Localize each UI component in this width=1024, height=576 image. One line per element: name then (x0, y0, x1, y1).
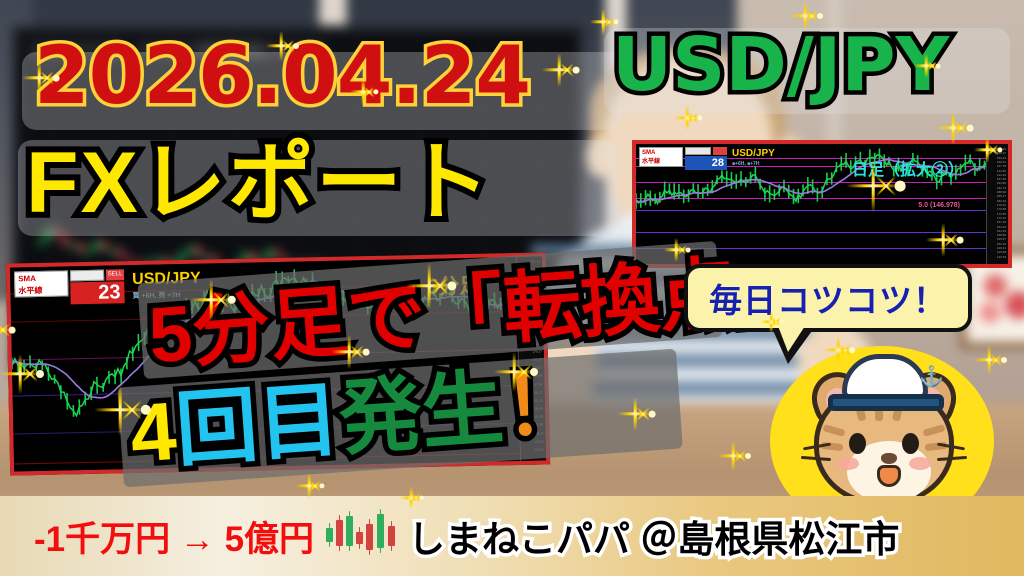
headline-event: 発生 (336, 363, 506, 465)
legend-hline: 水平線 (642, 158, 680, 167)
report-title: FXレポート (26, 140, 492, 226)
chart-5min-price-badge: 23 (70, 281, 124, 304)
speech-bubble: 毎日コツコツ！ (684, 264, 972, 332)
chart-daily-price-badge: 28 (685, 156, 727, 170)
chart-daily-subtext: ■+6H, ■+7H (732, 161, 759, 167)
thumbnail-canvas: 2026.04.24 USD/JPY FXレポート SMA 水平線 28 USD… (0, 0, 1024, 576)
chart-daily-price-annotation: 5.0 (146.978) (918, 202, 960, 209)
chart-daily-qty (685, 147, 711, 155)
channel-handle: しまねこパパ ＠島根県松江市 (408, 509, 899, 563)
cat-eye-right (902, 433, 919, 454)
date-title: 2026.04.24 (34, 36, 530, 116)
legend-hline: 水平線 (18, 284, 64, 297)
pair-title: USD/JPY (612, 28, 949, 102)
chart-5min-sell-button[interactable]: SELL (106, 269, 124, 280)
headline-exclaim: ！ (500, 357, 588, 453)
legend-sma: SMA (18, 272, 64, 285)
speech-bubble-text: 毎日コツコツ！ (709, 274, 947, 322)
chart-daily-sell (713, 147, 727, 155)
chart-daily-symbol: USD/JPY (732, 148, 775, 159)
chart-daily-legend: SMA 水平線 (639, 147, 683, 167)
performance-text: -1千万円 → 5億円 (34, 511, 314, 562)
chart-5min-qty (70, 270, 104, 282)
candlestick-icon (324, 510, 402, 562)
headline-count: 4 (127, 386, 179, 480)
legend-sma: SMA (642, 149, 680, 158)
cat-eye-left (849, 433, 866, 454)
headline-ordinal: 回目 (173, 374, 343, 476)
footer-bar: -1千万円 → 5億円 しまねこパパ ＠島根県松江市 (0, 496, 1024, 576)
sailor-cap-band (828, 394, 944, 411)
anchor-icon: ⚓ (919, 367, 944, 387)
cat-mascot: ⚓ (806, 358, 962, 514)
chart-daily-timeframe: 日足（拡大②） (852, 156, 964, 180)
chart-5min-legend: SMA 水平線 (14, 270, 69, 297)
